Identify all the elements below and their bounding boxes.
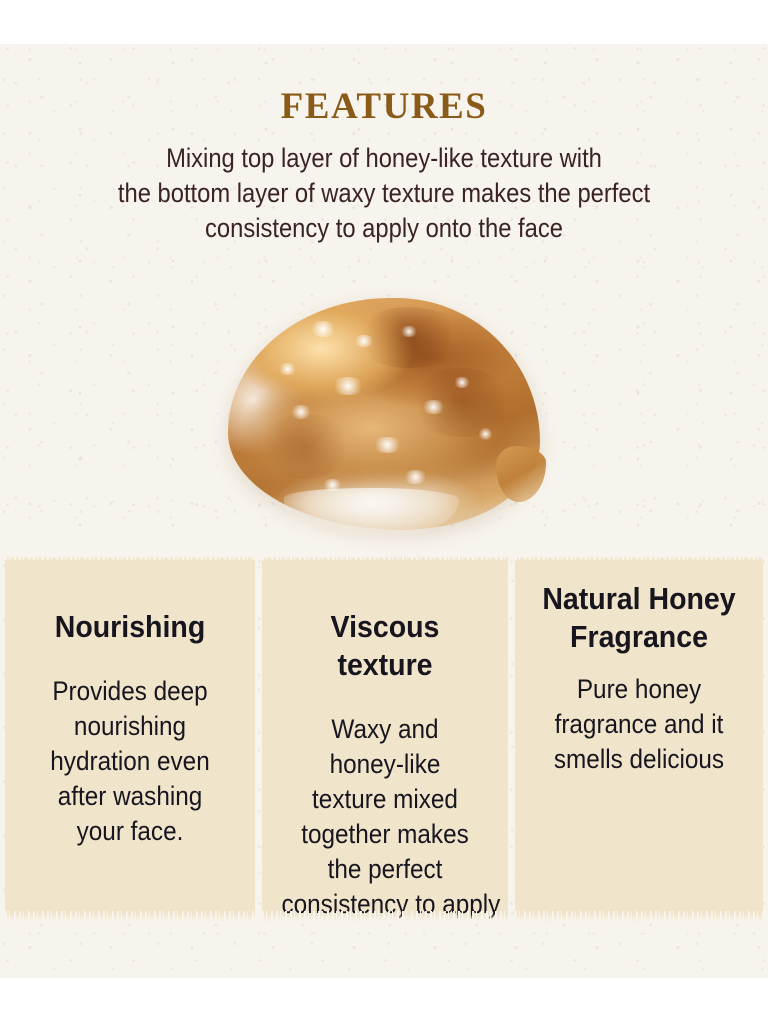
- header-subtitle: Mixing top layer of honey-like texture w…: [46, 141, 722, 246]
- feature-body-line: the perfect: [282, 852, 489, 887]
- header-subtitle-line: Mixing top layer of honey-like texture w…: [46, 141, 722, 176]
- blob-shade-right: [409, 368, 515, 438]
- feature-heading: Nourishing: [22, 608, 237, 646]
- feature-body-line: honey-like: [282, 747, 489, 782]
- header-subtitle-line: consistency to apply onto the face: [46, 211, 722, 246]
- gloss-highlight: [403, 470, 428, 484]
- feature-body-line: hydration even: [25, 744, 236, 779]
- feature-body-line: Provides deep: [25, 674, 236, 709]
- gloss-highlight: [331, 377, 365, 396]
- feature-panel-viscous-texture: Viscous texture Waxy and honey-like text…: [262, 556, 508, 922]
- feature-panel-content: Viscous texture Waxy and honey-like text…: [262, 556, 508, 922]
- feature-page: FEATURES Mixing top layer of honey-like …: [0, 0, 768, 1024]
- page-title: FEATURES: [0, 88, 768, 125]
- feature-heading: Natural Honey Fragrance: [532, 580, 745, 656]
- feature-body: Pure honey fragrance and it smells delic…: [535, 672, 744, 777]
- feature-panel-natural-honey-fragrance: Natural Honey Fragrance Pure honey fragr…: [515, 556, 763, 922]
- feature-heading-line: Fragrance: [532, 618, 745, 656]
- header-subtitle-line: the bottom layer of waxy texture makes t…: [46, 176, 722, 211]
- feature-panel-nourishing: Nourishing Provides deep nourishing hydr…: [5, 556, 255, 922]
- feature-body: Provides deep nourishing hydration even …: [25, 674, 236, 849]
- feature-body-line: fragrance and it: [535, 707, 744, 742]
- blob-shade-left: [259, 414, 353, 479]
- blob-highlight-zone: [322, 330, 403, 376]
- feature-body-line: nourishing: [25, 709, 236, 744]
- feature-body-line: smells delicious: [535, 742, 744, 777]
- torn-edge-bottom: [5, 911, 255, 922]
- feature-heading: Viscous texture: [279, 608, 491, 684]
- feature-body-line: after washing: [25, 779, 236, 814]
- feature-body: Waxy and honey-like texture mixed togeth…: [282, 712, 489, 922]
- product-texture-image: [228, 298, 540, 530]
- feature-panel-content: Nourishing Provides deep nourishing hydr…: [5, 556, 255, 922]
- feature-panel-content: Natural Honey Fragrance Pure honey fragr…: [515, 556, 763, 922]
- feature-body-line: your face.: [25, 814, 236, 849]
- feature-body-line: together makes: [282, 817, 489, 852]
- feature-body-line: texture mixed: [282, 782, 489, 817]
- honey-balm-blob: [228, 298, 540, 530]
- feature-heading-line: Natural Honey: [532, 580, 745, 618]
- honey-drip: [496, 446, 546, 502]
- torn-edge-bottom: [515, 911, 763, 922]
- feature-body-line: Pure honey: [535, 672, 744, 707]
- header-section: FEATURES Mixing top layer of honey-like …: [0, 88, 768, 246]
- gloss-highlight: [309, 321, 337, 337]
- feature-body-line: Waxy and: [282, 712, 489, 747]
- feature-panels: Nourishing Provides deep nourishing hydr…: [0, 556, 768, 922]
- gloss-highlight: [278, 363, 297, 375]
- torn-edge-bottom: [262, 911, 508, 922]
- gloss-highlight: [372, 437, 403, 453]
